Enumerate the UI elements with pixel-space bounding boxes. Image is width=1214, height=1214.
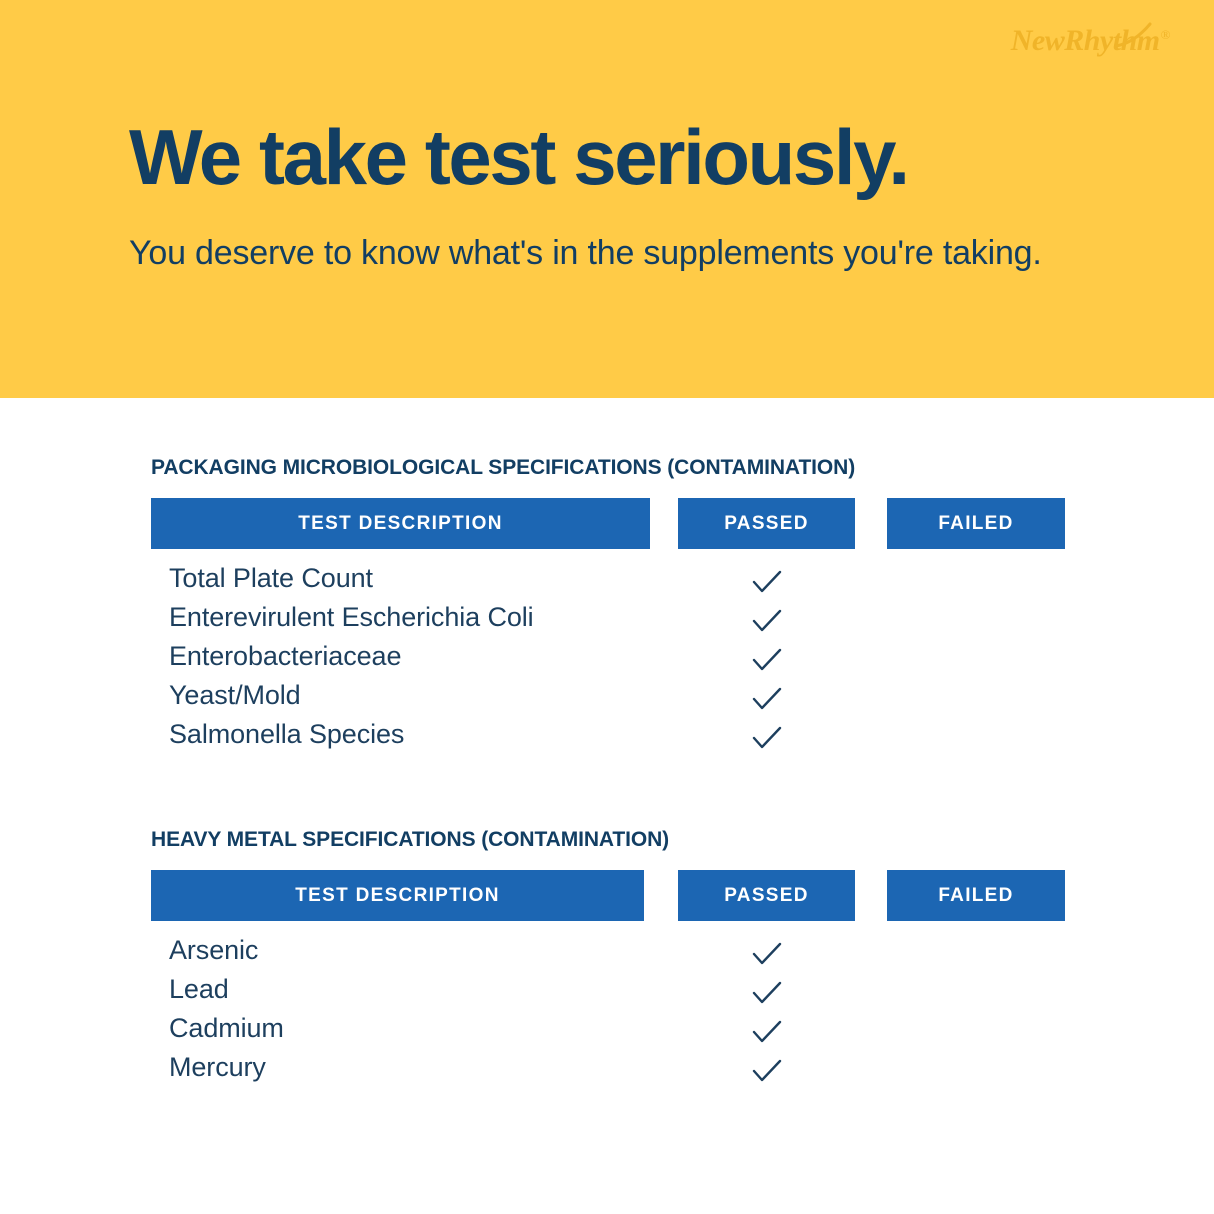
table-row: Cadmium: [0, 1009, 1214, 1048]
check-icon: [752, 725, 782, 751]
failed-cell: [887, 976, 1065, 1010]
table-row: Salmonella Species: [0, 715, 1214, 754]
check-icon: [752, 1019, 782, 1045]
column-header-failed: FAILED: [887, 498, 1065, 549]
check-icon: [752, 941, 782, 967]
table-row: Enterevirulent Escherichia Coli: [0, 598, 1214, 637]
table-header-row: TEST DESCRIPTION PASSED FAILED: [0, 870, 1214, 921]
row-description: Enterevirulent Escherichia Coli: [169, 598, 534, 637]
row-description: Mercury: [169, 1048, 266, 1087]
passed-cell: [678, 1054, 855, 1088]
table-row: Total Plate Count: [0, 559, 1214, 598]
column-header-failed: FAILED: [887, 870, 1065, 921]
column-header-description: TEST DESCRIPTION: [151, 870, 644, 921]
passed-cell: [678, 604, 855, 638]
failed-cell: [887, 721, 1065, 755]
failed-cell: [887, 604, 1065, 638]
passed-cell: [678, 721, 855, 755]
failed-cell: [887, 1015, 1065, 1049]
row-description: Cadmium: [169, 1009, 284, 1048]
passed-cell: [678, 976, 855, 1010]
check-icon: [752, 1058, 782, 1084]
column-header-description: TEST DESCRIPTION: [151, 498, 650, 549]
section-title: PACKAGING MICROBIOLOGICAL SPECIFICATIONS…: [151, 456, 855, 480]
brand-logo: NewRhythm®: [1011, 24, 1170, 58]
column-header-passed: PASSED: [678, 870, 855, 921]
check-icon: [752, 686, 782, 712]
section-title: HEAVY METAL SPECIFICATIONS (CONTAMINATIO…: [151, 828, 669, 852]
table-row: Yeast/Mold: [0, 676, 1214, 715]
table-body: Total Plate Count Enterevirulent Escheri…: [0, 559, 1214, 754]
table-body: Arsenic Lead Cadmium: [0, 931, 1214, 1087]
table-row: Arsenic: [0, 931, 1214, 970]
page-subtitle: You deserve to know what's in the supple…: [129, 228, 1069, 279]
row-description: Arsenic: [169, 931, 258, 970]
row-description: Total Plate Count: [169, 559, 373, 598]
row-description: Salmonella Species: [169, 715, 404, 754]
failed-cell: [887, 682, 1065, 716]
passed-cell: [678, 1015, 855, 1049]
failed-cell: [887, 937, 1065, 971]
failed-cell: [887, 565, 1065, 599]
check-icon: [752, 647, 782, 673]
passed-cell: [678, 565, 855, 599]
check-icon: [752, 608, 782, 634]
failed-cell: [887, 643, 1065, 677]
passed-cell: [678, 682, 855, 716]
check-icon: [752, 569, 782, 595]
check-icon: [752, 980, 782, 1006]
passed-cell: [678, 643, 855, 677]
column-header-passed: PASSED: [678, 498, 855, 549]
table-row: Enterobacteriaceae: [0, 637, 1214, 676]
page-title: We take test seriously.: [129, 118, 908, 196]
page-root: NewRhythm® We take test seriously. You d…: [0, 0, 1214, 1214]
table-row: Lead: [0, 970, 1214, 1009]
row-description: Lead: [169, 970, 229, 1009]
brand-name: NewRhythm: [1011, 24, 1160, 57]
passed-cell: [678, 937, 855, 971]
failed-cell: [887, 1054, 1065, 1088]
row-description: Enterobacteriaceae: [169, 637, 401, 676]
hero-banner: NewRhythm® We take test seriously. You d…: [0, 0, 1214, 398]
row-description: Yeast/Mold: [169, 676, 301, 715]
table-row: Mercury: [0, 1048, 1214, 1087]
table-header-row: TEST DESCRIPTION PASSED FAILED: [0, 498, 1214, 549]
registered-mark-icon: ®: [1161, 27, 1170, 42]
